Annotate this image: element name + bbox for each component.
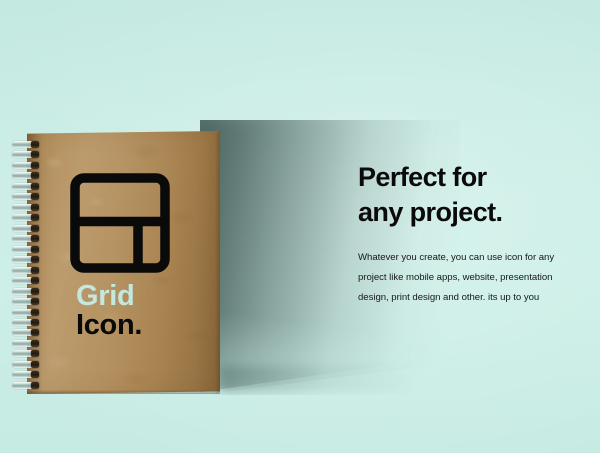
coil-inner-gap — [14, 384, 30, 387]
coil-inner-gap — [14, 227, 30, 230]
coil-punch-hole — [31, 371, 39, 378]
coil-inner-gap — [14, 331, 30, 334]
coil-inner-gap — [14, 311, 30, 314]
coil-inner-gap — [14, 143, 30, 146]
spiral-coil — [12, 383, 44, 388]
coil-punch-hole — [31, 256, 39, 263]
coil-inner-gap — [14, 363, 30, 366]
coil-punch-hole — [31, 183, 39, 190]
brand-word-grid: Grid — [76, 283, 142, 311]
coil-inner-gap — [14, 237, 30, 240]
cover-right-edge — [215, 131, 220, 394]
copy-block: Perfect for any project. Whatever you cr… — [358, 160, 570, 307]
spiral-coil — [12, 152, 44, 157]
body-paragraph: Whatever you create, you can use icon fo… — [358, 248, 570, 307]
spiral-coil — [12, 257, 44, 262]
coil-punch-hole — [31, 267, 39, 274]
grid-layout-icon — [70, 173, 170, 273]
headline: Perfect for any project. — [358, 160, 570, 230]
coil-inner-gap — [14, 269, 30, 272]
coil-inner-gap — [14, 373, 30, 376]
spiral-coil — [12, 215, 44, 220]
coil-inner-gap — [14, 352, 30, 355]
coil-inner-gap — [14, 321, 30, 324]
spiral-coil — [12, 372, 44, 377]
coil-punch-hole — [31, 298, 39, 305]
body-line-3: design, print design and other. its up t… — [358, 288, 570, 308]
spiral-coil — [12, 330, 44, 335]
coil-inner-gap — [14, 258, 30, 261]
spiral-coil — [12, 236, 44, 241]
spiral-coil — [12, 247, 44, 252]
spiral-coil — [12, 205, 44, 210]
spiral-coil — [12, 310, 44, 315]
coil-inner-gap — [14, 185, 30, 188]
coil-punch-hole — [31, 214, 39, 221]
spiral-coil — [12, 226, 44, 231]
spiral-coil — [12, 142, 44, 147]
spiral-coil — [12, 268, 44, 273]
coil-inner-gap — [14, 248, 30, 251]
coil-punch-hole — [31, 382, 39, 389]
coil-punch-hole — [31, 319, 39, 326]
spiral-coil — [12, 184, 44, 189]
headline-line-2: any project. — [358, 195, 570, 230]
body-line-2: project like mobile apps, website, prese… — [358, 268, 570, 288]
coil-punch-hole — [31, 225, 39, 232]
coil-punch-hole — [31, 361, 39, 368]
coil-punch-hole — [31, 340, 39, 347]
coil-punch-hole — [31, 151, 39, 158]
headline-line-1: Perfect for — [358, 160, 570, 195]
coil-punch-hole — [31, 204, 39, 211]
coil-inner-gap — [14, 206, 30, 209]
coil-punch-hole — [31, 309, 39, 316]
spiral-coil — [12, 278, 44, 283]
spiral-coil — [12, 362, 44, 367]
coil-punch-hole — [31, 350, 39, 357]
coil-inner-gap — [14, 195, 30, 198]
brand-word-icon: Icon. — [76, 312, 142, 340]
coil-punch-hole — [31, 193, 39, 200]
coil-punch-hole — [31, 288, 39, 295]
spiral-coil — [12, 194, 44, 199]
coil-punch-hole — [31, 277, 39, 284]
coil-inner-gap — [14, 279, 30, 282]
spiral-coil — [12, 351, 44, 356]
coil-punch-hole — [31, 141, 39, 148]
coil-punch-hole — [31, 246, 39, 253]
spiral-coil — [12, 173, 44, 178]
coil-punch-hole — [31, 172, 39, 179]
brand-wordmark: Grid Icon. — [76, 283, 142, 340]
spiral-coil — [12, 341, 44, 346]
coil-punch-hole — [31, 329, 39, 336]
spiral-coil — [12, 163, 44, 168]
spiral-coil — [12, 320, 44, 325]
coil-inner-gap — [14, 290, 30, 293]
coil-inner-gap — [14, 300, 30, 303]
coil-punch-hole — [31, 235, 39, 242]
coil-inner-gap — [14, 342, 30, 345]
cover-bottom-edge — [27, 390, 220, 394]
body-line-1: Whatever you create, you can use icon fo… — [358, 248, 570, 268]
spiral-coil — [12, 289, 44, 294]
spiral-coil — [12, 299, 44, 304]
coil-inner-gap — [14, 216, 30, 219]
coil-punch-hole — [31, 162, 39, 169]
coil-inner-gap — [14, 174, 30, 177]
presentation-slide: Grid Icon. Perfect for any project. What… — [0, 0, 600, 453]
spiral-wire-binding — [12, 142, 44, 388]
coil-inner-gap — [14, 164, 30, 167]
